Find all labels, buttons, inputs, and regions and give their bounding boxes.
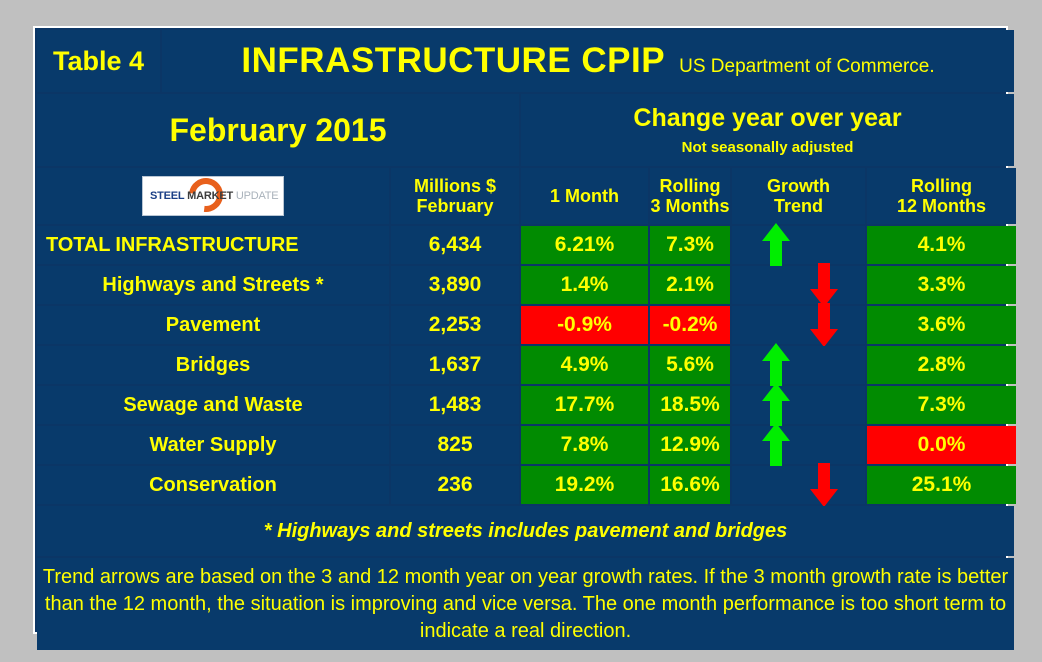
cell-growth-trend xyxy=(732,386,865,424)
page-title: INFRASTRUCTURE CPIP xyxy=(241,41,665,80)
row-label: Bridges xyxy=(37,346,389,384)
cell-millions-february: 6,434 xyxy=(391,226,519,264)
footnote-row: * Highways and streets includes pavement… xyxy=(37,506,1016,556)
cell-millions-february: 1,483 xyxy=(391,386,519,424)
row-label: Sewage and Waste xyxy=(37,386,389,424)
cell-rolling-12-months: 3.3% xyxy=(867,266,1016,304)
table-row: Sewage and Waste1,48317.7%18.5%7.3% xyxy=(37,386,1016,424)
cell-rolling-12-months: 4.1% xyxy=(867,226,1016,264)
table-row: TOTAL INFRASTRUCTURE6,4346.21%7.3%4.1% xyxy=(37,226,1016,264)
cell-one-month: 17.7% xyxy=(521,386,648,424)
column-header-growth-trend-line2: Trend xyxy=(732,196,865,216)
cell-growth-trend xyxy=(732,306,865,344)
period-row: February 2015 Change year over year Not … xyxy=(37,94,1016,166)
cell-millions-february: 3,890 xyxy=(391,266,519,304)
change-year-over-year-cell: Change year over year Not seasonally adj… xyxy=(521,94,1014,166)
cell-growth-trend xyxy=(732,226,865,264)
cell-one-month: 1.4% xyxy=(521,266,648,304)
cell-millions-february: 825 xyxy=(391,426,519,464)
cell-rolling-3-months: -0.2% xyxy=(650,306,730,344)
cell-rolling-3-months: 5.6% xyxy=(650,346,730,384)
table-row: Conservation23619.2%16.6%25.1% xyxy=(37,466,1016,504)
cell-rolling-3-months: 18.5% xyxy=(650,386,730,424)
infrastructure-cpip-table: Table 4 INFRASTRUCTURE CPIPUS Department… xyxy=(35,28,1018,652)
cell-rolling-12-months: 2.8% xyxy=(867,346,1016,384)
column-header-one-month-line1: 1 Month xyxy=(521,186,648,206)
growth-trend-up-icon xyxy=(761,342,791,388)
arrow-down-glyph xyxy=(809,462,839,508)
cell-growth-trend xyxy=(732,466,865,504)
change-heading: Change year over year xyxy=(521,104,1014,133)
cell-growth-trend xyxy=(732,266,865,304)
cell-one-month: 7.8% xyxy=(521,426,648,464)
cell-one-month: 4.9% xyxy=(521,346,648,384)
growth-trend-up-icon xyxy=(761,222,791,268)
cell-one-month: 19.2% xyxy=(521,466,648,504)
trend-arrow-note: Trend arrows are based on the 3 and 12 m… xyxy=(37,558,1014,650)
column-header-growth-trend-line1: Growth xyxy=(732,176,865,196)
cell-growth-trend xyxy=(732,346,865,384)
arrow-down-glyph xyxy=(809,302,839,348)
cell-millions-february: 2,253 xyxy=(391,306,519,344)
cell-rolling-3-months: 12.9% xyxy=(650,426,730,464)
arrow-up-glyph xyxy=(761,342,791,388)
steel-market-update-logo: STEEL MARKET UPDATE xyxy=(142,176,284,216)
column-header-rolling-12-line2: 12 Months xyxy=(867,196,1016,216)
table-panel: Table 4 INFRASTRUCTURE CPIPUS Department… xyxy=(33,26,1008,634)
logo-word-update: UPDATE xyxy=(236,190,279,202)
table-row: Bridges1,6374.9%5.6%2.8% xyxy=(37,346,1016,384)
column-header-one-month: 1 Month xyxy=(521,168,648,224)
arrow-up-glyph xyxy=(761,382,791,428)
logo-word-market: MARKET xyxy=(187,190,233,202)
arrow-up-glyph xyxy=(761,422,791,468)
table-row: Highways and Streets *3,8901.4%2.1%3.3% xyxy=(37,266,1016,304)
growth-trend-up-icon xyxy=(761,422,791,468)
column-header-rolling-12: Rolling 12 Months xyxy=(867,168,1016,224)
cell-millions-february: 1,637 xyxy=(391,346,519,384)
cell-rolling-12-months: 7.3% xyxy=(867,386,1016,424)
column-header-growth-trend: Growth Trend xyxy=(732,168,865,224)
row-label: TOTAL INFRASTRUCTURE xyxy=(37,226,389,264)
growth-trend-down-icon xyxy=(809,262,839,308)
column-header-millions-line2: February xyxy=(391,196,519,216)
cell-one-month: 6.21% xyxy=(521,226,648,264)
growth-trend-up-icon xyxy=(761,382,791,428)
growth-trend-down-icon xyxy=(809,302,839,348)
cell-rolling-12-months: 3.6% xyxy=(867,306,1016,344)
row-label: Highways and Streets * xyxy=(37,266,389,304)
row-label: Pavement xyxy=(37,306,389,344)
column-header-rolling-3-line1: Rolling xyxy=(650,176,730,196)
table-row: Pavement2,253-0.9%-0.2%3.6% xyxy=(37,306,1016,344)
table-tag: Table 4 xyxy=(37,30,160,92)
note-row: Trend arrows are based on the 3 and 12 m… xyxy=(37,558,1016,650)
table-row: Water Supply8257.8%12.9%0.0% xyxy=(37,426,1016,464)
cell-rolling-12-months: 25.1% xyxy=(867,466,1016,504)
column-header-row: STEEL MARKET UPDATE Millions $ February … xyxy=(37,168,1016,224)
row-label: Water Supply xyxy=(37,426,389,464)
column-header-millions-line1: Millions $ xyxy=(391,176,519,196)
cell-rolling-3-months: 7.3% xyxy=(650,226,730,264)
cell-rolling-12-months: 0.0% xyxy=(867,426,1016,464)
column-header-rolling-12-line1: Rolling xyxy=(867,176,1016,196)
title-cell: INFRASTRUCTURE CPIPUS Department of Comm… xyxy=(162,30,1014,92)
cell-millions-february: 236 xyxy=(391,466,519,504)
column-header-millions: Millions $ February xyxy=(391,168,519,224)
cell-rolling-3-months: 16.6% xyxy=(650,466,730,504)
logo-cell: STEEL MARKET UPDATE xyxy=(37,168,389,224)
growth-trend-down-icon xyxy=(809,462,839,508)
footnote: * Highways and streets includes pavement… xyxy=(37,506,1014,556)
column-header-rolling-3: Rolling 3 Months xyxy=(650,168,730,224)
cell-one-month: -0.9% xyxy=(521,306,648,344)
title-source: US Department of Commerce. xyxy=(665,56,935,77)
row-label: Conservation xyxy=(37,466,389,504)
arrow-up-glyph xyxy=(761,222,791,268)
period-label: February 2015 xyxy=(37,94,519,166)
title-row: Table 4 INFRASTRUCTURE CPIPUS Department… xyxy=(37,30,1016,92)
logo-word-steel: STEEL xyxy=(150,190,184,202)
column-header-rolling-3-line2: 3 Months xyxy=(650,196,730,216)
arrow-down-glyph xyxy=(809,262,839,308)
cell-growth-trend xyxy=(732,426,865,464)
change-subheading: Not seasonally adjusted xyxy=(521,139,1014,156)
cell-rolling-3-months: 2.1% xyxy=(650,266,730,304)
